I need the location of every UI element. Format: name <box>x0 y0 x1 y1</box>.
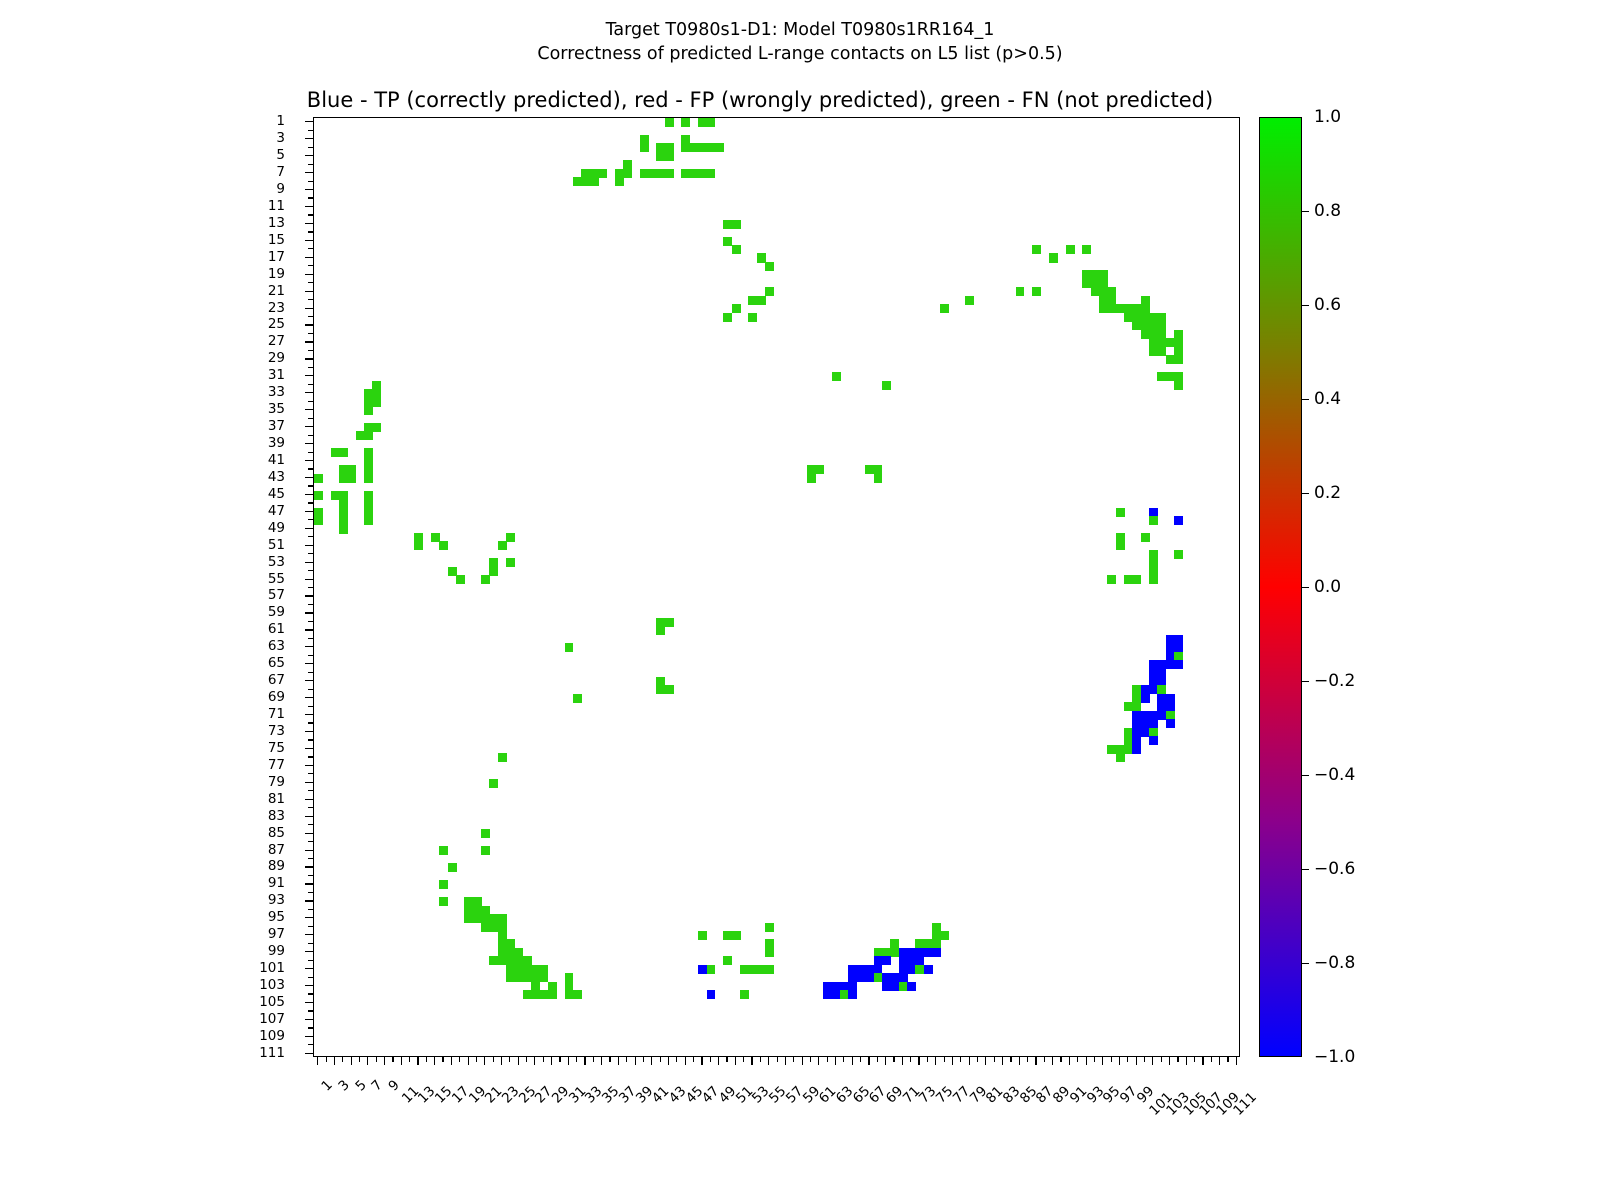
y-tick-major <box>305 341 313 342</box>
y-tick-minor <box>308 672 313 673</box>
x-tick-major <box>601 1057 602 1065</box>
y-tick-major <box>305 934 313 935</box>
contact-cell <box>623 169 632 178</box>
contact-cell <box>765 923 774 932</box>
x-tick-minor <box>860 1057 861 1062</box>
colorbar-tick-label: 1.0 <box>1314 107 1341 127</box>
x-tick-major <box>1169 1057 1170 1065</box>
colorbar-tick-label: 0.0 <box>1314 577 1341 597</box>
contact-cell <box>707 990 716 999</box>
y-tick-major <box>305 206 313 207</box>
contact-cell <box>656 626 665 635</box>
y-tick-label: 95 <box>268 909 285 925</box>
x-tick-minor <box>1161 1057 1162 1062</box>
y-tick-major <box>305 240 313 241</box>
contact-cell <box>364 474 373 483</box>
y-tick-label: 3 <box>276 130 285 146</box>
contact-cell <box>590 177 599 186</box>
y-tick-major <box>305 579 313 580</box>
contact-cell <box>498 541 507 550</box>
contact-cell <box>414 541 423 550</box>
x-tick-minor <box>1010 1057 1011 1062</box>
y-tick-minor <box>308 1027 313 1028</box>
y-tick-major <box>305 1002 313 1003</box>
y-tick-minor <box>308 977 313 978</box>
contact-cell <box>481 846 490 855</box>
x-tick-minor <box>426 1057 427 1062</box>
x-tick-major <box>1019 1057 1020 1065</box>
x-tick-major <box>1002 1057 1003 1065</box>
y-tick-major <box>305 799 313 800</box>
contact-cell <box>1174 381 1183 390</box>
y-tick-minor <box>308 130 313 131</box>
y-tick-minor <box>308 790 313 791</box>
contact-cell <box>1141 694 1150 703</box>
x-tick-major <box>1069 1057 1070 1065</box>
x-tick-minor <box>743 1057 744 1062</box>
y-tick-minor <box>308 316 313 317</box>
y-tick-minor <box>308 858 313 859</box>
contact-cell <box>489 558 498 567</box>
contact-cell <box>347 474 356 483</box>
x-tick-major <box>518 1057 519 1065</box>
contact-cell <box>1082 245 1091 254</box>
y-tick-major <box>305 291 313 292</box>
contact-cell <box>439 897 448 906</box>
contact-map-plot-area[interactable] <box>313 117 1240 1057</box>
x-tick-major <box>885 1057 886 1065</box>
contact-cell <box>364 448 373 457</box>
y-tick-major <box>305 951 313 952</box>
contact-cell <box>665 618 674 627</box>
y-tick-major <box>305 121 313 122</box>
y-tick-minor <box>308 926 313 927</box>
x-tick-major <box>317 1057 318 1065</box>
y-tick-minor <box>308 452 313 453</box>
contact-cell <box>456 575 465 584</box>
y-tick-major <box>305 1053 313 1054</box>
contact-cell <box>765 287 774 296</box>
y-tick-label: 105 <box>259 994 285 1010</box>
y-tick-minor <box>308 519 313 520</box>
y-tick-label: 17 <box>268 249 285 265</box>
contact-cell <box>924 965 933 974</box>
y-tick-major <box>305 155 313 156</box>
contact-cell <box>1116 508 1125 517</box>
colorbar-tick <box>1302 399 1309 400</box>
contact-cell <box>598 169 607 178</box>
y-tick-label: 81 <box>268 791 285 807</box>
x-axis: 1357911131517192123252729313335373941434… <box>313 1057 1243 1197</box>
y-tick-label: 55 <box>268 571 285 587</box>
y-tick-major <box>305 968 313 969</box>
y-tick-label: 43 <box>268 469 285 485</box>
y-tick-minor <box>308 536 313 537</box>
y-tick-major <box>305 612 313 613</box>
contact-cell <box>832 372 841 381</box>
x-tick-minor <box>777 1057 778 1062</box>
contact-cell <box>1174 516 1183 525</box>
y-tick-label: 35 <box>268 401 285 417</box>
x-tick-major <box>618 1057 619 1065</box>
x-tick-major <box>1236 1057 1237 1065</box>
x-tick-major <box>1202 1057 1203 1065</box>
colorbar-axis: 1.00.80.60.40.20.0−0.2−0.4−0.6−0.8−1.0 <box>1302 117 1392 1058</box>
contact-cell <box>665 152 674 161</box>
contact-cell <box>498 753 507 762</box>
x-tick-major <box>969 1057 970 1065</box>
y-tick-label: 79 <box>268 774 285 790</box>
y-tick-label: 13 <box>268 215 285 231</box>
y-tick-label: 85 <box>268 825 285 841</box>
contact-cell <box>489 779 498 788</box>
y-tick-minor <box>308 892 313 893</box>
contact-cell <box>665 118 674 127</box>
y-tick-label: 57 <box>268 587 285 603</box>
contact-cell <box>1132 702 1141 711</box>
y-tick-label: 7 <box>276 164 285 180</box>
title-line-2: Correctness of predicted L-range contact… <box>0 42 1600 66</box>
y-tick-label: 59 <box>268 604 285 620</box>
colorbar-tick-label: −0.2 <box>1314 671 1355 691</box>
colorbar-tick-label: −0.4 <box>1314 765 1355 785</box>
x-tick-minor <box>827 1057 828 1062</box>
contact-cells-layer <box>314 118 1239 1056</box>
y-tick-minor <box>308 214 313 215</box>
y-tick-minor <box>308 807 313 808</box>
y-tick-label: 39 <box>268 435 285 451</box>
y-tick-label: 23 <box>268 300 285 316</box>
x-tick-minor <box>944 1057 945 1062</box>
contact-cell <box>339 508 348 517</box>
y-tick-major <box>305 223 313 224</box>
colorbar-tick <box>1302 587 1309 588</box>
colorbar-tick-label: 0.8 <box>1314 201 1341 221</box>
contact-cell <box>439 846 448 855</box>
y-tick-label: 11 <box>268 198 285 214</box>
x-tick-major <box>351 1057 352 1065</box>
y-tick-major <box>305 714 313 715</box>
x-tick-minor <box>1194 1057 1195 1062</box>
contact-cell <box>757 296 766 305</box>
y-axis: 1357911131517192123252729313335373941434… <box>0 117 313 1058</box>
x-tick-label: 5 <box>352 1077 369 1094</box>
contact-cell <box>1107 304 1116 313</box>
contact-cell <box>707 965 716 974</box>
x-tick-major <box>635 1057 636 1065</box>
y-tick-label: 93 <box>268 892 285 908</box>
contact-cell <box>364 431 373 440</box>
x-tick-major <box>651 1057 652 1065</box>
contact-cell <box>1174 550 1183 559</box>
y-tick-minor <box>308 943 313 944</box>
contact-cell <box>732 245 741 254</box>
contact-cell <box>907 982 916 991</box>
x-tick-minor <box>1127 1057 1128 1062</box>
y-tick-major <box>305 748 313 749</box>
y-tick-minor <box>308 655 313 656</box>
x-tick-minor <box>1077 1057 1078 1062</box>
y-tick-minor <box>308 468 313 469</box>
x-tick-major <box>902 1057 903 1065</box>
contact-cell <box>1107 575 1116 584</box>
y-tick-minor <box>308 350 313 351</box>
y-tick-label: 65 <box>268 655 285 671</box>
contact-cell <box>1091 287 1100 296</box>
contact-cell <box>339 448 348 457</box>
x-tick-minor <box>376 1057 377 1062</box>
y-tick-major <box>305 477 313 478</box>
y-tick-major <box>305 375 313 376</box>
x-tick-minor <box>676 1057 677 1062</box>
x-tick-major <box>367 1057 368 1065</box>
y-tick-minor <box>308 333 313 334</box>
contact-cell <box>1099 270 1108 279</box>
contact-cell <box>339 524 348 533</box>
y-tick-label: 21 <box>268 283 285 299</box>
contact-cell <box>1141 533 1150 542</box>
x-tick-minor <box>1044 1057 1045 1062</box>
x-tick-label: 9 <box>385 1077 402 1094</box>
y-tick-minor <box>308 485 313 486</box>
y-tick-minor <box>308 756 313 757</box>
y-tick-minor <box>308 875 313 876</box>
y-tick-minor <box>308 604 313 605</box>
x-tick-minor <box>609 1057 610 1062</box>
contact-cell <box>940 931 949 940</box>
x-tick-minor <box>1060 1057 1061 1062</box>
y-tick-major <box>305 697 313 698</box>
y-tick-major <box>305 1019 313 1020</box>
x-tick-minor <box>326 1057 327 1062</box>
contact-cell <box>874 973 883 982</box>
y-tick-minor <box>308 570 313 571</box>
colorbar-tick <box>1302 305 1309 306</box>
y-tick-major <box>305 917 313 918</box>
y-tick-minor <box>308 401 313 402</box>
y-tick-minor <box>308 231 313 232</box>
y-tick-minor <box>308 773 313 774</box>
y-tick-minor <box>308 587 313 588</box>
x-tick-minor <box>626 1057 627 1062</box>
y-tick-label: 67 <box>268 672 285 688</box>
x-tick-minor <box>893 1057 894 1062</box>
x-tick-major <box>701 1057 702 1065</box>
y-tick-major <box>305 866 313 867</box>
contact-cell <box>965 296 974 305</box>
colorbar-tick <box>1302 869 1309 870</box>
y-tick-label: 83 <box>268 808 285 824</box>
y-tick-major <box>305 816 313 817</box>
x-tick-minor <box>726 1057 727 1062</box>
y-tick-label: 29 <box>268 350 285 366</box>
y-tick-major <box>305 460 313 461</box>
contact-cell <box>489 567 498 576</box>
x-tick-major <box>952 1057 953 1065</box>
contact-cell <box>506 533 515 542</box>
x-tick-minor <box>509 1057 510 1062</box>
x-tick-major <box>868 1057 869 1065</box>
x-tick-minor <box>710 1057 711 1062</box>
contact-cell <box>732 220 741 229</box>
y-tick-minor <box>308 824 313 825</box>
y-tick-label: 37 <box>268 418 285 434</box>
colorbar-tick-label: −0.8 <box>1314 953 1355 973</box>
y-tick-major <box>305 562 313 563</box>
contact-cell <box>882 381 891 390</box>
x-tick-minor <box>476 1057 477 1062</box>
contact-cell <box>665 143 674 152</box>
y-tick-label: 25 <box>268 316 285 332</box>
x-tick-minor <box>960 1057 961 1062</box>
x-tick-major <box>852 1057 853 1065</box>
y-tick-minor <box>308 418 313 419</box>
contact-cell <box>506 558 515 567</box>
x-tick-minor <box>693 1057 694 1062</box>
contact-cell <box>364 508 373 517</box>
y-tick-major <box>305 392 313 393</box>
contact-cell <box>723 313 732 322</box>
y-tick-major <box>305 883 313 884</box>
contact-cell <box>748 296 757 305</box>
x-tick-minor <box>910 1057 911 1062</box>
contact-cell <box>481 829 490 838</box>
x-tick-major <box>401 1057 402 1065</box>
y-tick-minor <box>308 1010 313 1011</box>
x-tick-major <box>334 1057 335 1065</box>
contact-cell <box>372 423 381 432</box>
x-tick-major <box>1102 1057 1103 1065</box>
y-tick-minor <box>308 621 313 622</box>
x-tick-minor <box>526 1057 527 1062</box>
y-tick-major <box>305 663 313 664</box>
y-tick-label: 107 <box>259 1011 285 1027</box>
y-tick-minor <box>308 722 313 723</box>
x-tick-minor <box>392 1057 393 1062</box>
y-tick-minor <box>308 638 313 639</box>
x-tick-major <box>551 1057 552 1065</box>
contact-cell <box>439 880 448 889</box>
x-tick-major <box>1152 1057 1153 1065</box>
contact-cell <box>681 118 690 127</box>
contact-cell <box>765 948 774 957</box>
y-tick-label: 73 <box>268 723 285 739</box>
contact-cell <box>314 516 323 525</box>
color-legend-subtitle: Blue - TP (correctly predicted), red - F… <box>0 88 1520 112</box>
contact-cell <box>748 313 757 322</box>
x-tick-major <box>1219 1057 1220 1065</box>
x-tick-minor <box>1094 1057 1095 1062</box>
y-tick-label: 9 <box>276 181 285 197</box>
contact-cell <box>665 169 674 178</box>
y-tick-major <box>305 257 313 258</box>
y-tick-minor <box>308 299 313 300</box>
y-tick-major <box>305 985 313 986</box>
y-tick-major <box>305 646 313 647</box>
contact-cell <box>807 474 816 483</box>
contact-cell <box>1174 355 1183 364</box>
y-tick-major <box>305 308 313 309</box>
y-tick-label: 63 <box>268 638 285 654</box>
contact-cell <box>481 575 490 584</box>
y-tick-minor <box>308 706 313 707</box>
y-tick-minor <box>308 689 313 690</box>
colorbar-tick-label: −0.6 <box>1314 859 1355 879</box>
y-tick-major <box>305 426 313 427</box>
y-tick-label: 91 <box>268 875 285 891</box>
x-tick-minor <box>593 1057 594 1062</box>
contact-cell <box>364 406 373 415</box>
x-tick-major <box>1119 1057 1120 1065</box>
x-tick-minor <box>927 1057 928 1062</box>
y-tick-label: 69 <box>268 689 285 705</box>
colorbar-tick <box>1302 493 1309 494</box>
x-tick-minor <box>1111 1057 1112 1062</box>
contact-cell <box>882 956 891 965</box>
y-tick-label: 47 <box>268 503 285 519</box>
contact-cell <box>573 694 582 703</box>
x-tick-major <box>735 1057 736 1065</box>
y-tick-minor <box>308 993 313 994</box>
contact-cell <box>364 516 373 525</box>
y-tick-minor <box>308 739 313 740</box>
x-tick-minor <box>994 1057 995 1062</box>
contact-cell <box>707 118 716 127</box>
colorbar-tick-label: 0.6 <box>1314 295 1341 315</box>
x-tick-minor <box>459 1057 460 1062</box>
x-tick-major <box>985 1057 986 1065</box>
y-tick-major <box>305 409 313 410</box>
contact-cell <box>1032 245 1041 254</box>
y-tick-major <box>305 494 313 495</box>
contact-cell <box>1174 660 1183 669</box>
x-tick-minor <box>442 1057 443 1062</box>
y-tick-minor <box>308 282 313 283</box>
figure-title: Target T0980s1-D1: Model T0980s1RR164_1 … <box>0 18 1600 66</box>
y-tick-label: 33 <box>268 384 285 400</box>
title-line-1: Target T0980s1-D1: Model T0980s1RR164_1 <box>0 18 1600 42</box>
contact-cell <box>1149 575 1158 584</box>
x-tick-major <box>1052 1057 1053 1065</box>
contact-cell <box>874 474 883 483</box>
x-tick-minor <box>1211 1057 1212 1062</box>
x-tick-minor <box>1144 1057 1145 1062</box>
y-tick-label: 61 <box>268 621 285 637</box>
y-tick-major <box>305 833 313 834</box>
contact-cell <box>1066 245 1075 254</box>
y-tick-minor <box>308 164 313 165</box>
y-tick-major <box>305 782 313 783</box>
colorbar-gradient <box>1259 117 1302 1057</box>
contact-cell <box>565 643 574 652</box>
x-tick-major <box>718 1057 719 1065</box>
x-tick-major <box>434 1057 435 1065</box>
contact-cell <box>573 990 582 999</box>
contact-cell <box>339 474 348 483</box>
y-tick-label: 111 <box>259 1045 285 1061</box>
x-tick-major <box>484 1057 485 1065</box>
y-tick-label: 51 <box>268 537 285 553</box>
contact-cell <box>1032 287 1041 296</box>
x-tick-major <box>751 1057 752 1065</box>
x-tick-major <box>1136 1057 1137 1065</box>
colorbar-tick-label: 0.2 <box>1314 483 1341 503</box>
contact-cell <box>498 923 507 932</box>
x-tick-minor <box>1027 1057 1028 1062</box>
y-tick-major <box>305 443 313 444</box>
contact-cell <box>464 914 473 923</box>
y-tick-label: 19 <box>268 266 285 282</box>
